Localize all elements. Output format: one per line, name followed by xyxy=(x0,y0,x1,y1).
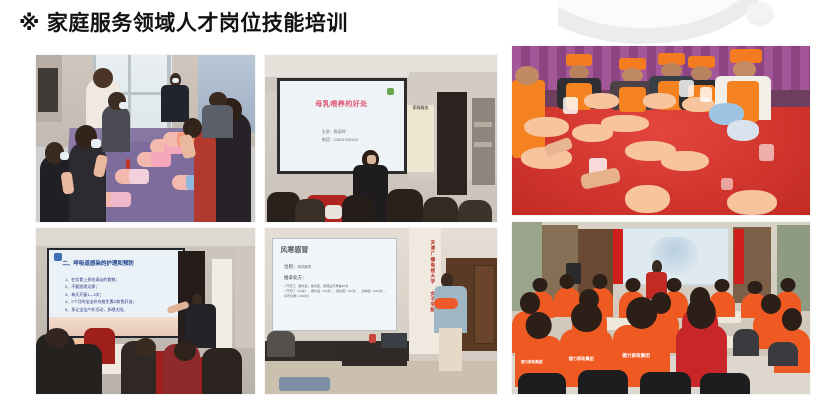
slide-presenter: 主讲：陈丽时 xyxy=(322,128,358,136)
slide-subtitle: 主讲：陈丽时 电话：13461932510 xyxy=(322,128,358,144)
slide-detail-list: • 开天门、推坎宫、揉太阳、揉耳后高骨各30次 • 开天门（24次）、推坎宫（2… xyxy=(284,284,389,299)
slide-bullet-principle: 治则：疏风解表 xyxy=(284,264,311,270)
photo-tcm-massage-lecture: 风寒感冒 治则：疏风解表 推拿处方： • 开天门、推坎宫、揉太阳、揉耳后高骨各3… xyxy=(265,228,497,394)
slide-bullet-label: 治则： xyxy=(284,264,298,269)
uniform-text: 德力家政集团 xyxy=(622,353,650,359)
slide-bullet-prescription: 推拿处方： xyxy=(284,275,307,281)
slide-bullet-item: 1、在饮食上多吃清淡的食物； xyxy=(65,276,136,284)
wall-calligraphy: 家政服务 xyxy=(407,105,435,172)
slide-detail-line: • 开天门（24次）、推坎宫（24次）、揉太阳（30次）、清肺经（100次）、平… xyxy=(284,289,389,299)
uniform-text: 德力家政集团 xyxy=(521,360,543,365)
wall-calligraphy-text: 家政服务 xyxy=(407,105,435,111)
slide-title: 风寒感冒 xyxy=(280,245,308,255)
slide-title: 母乳喂养的好处 xyxy=(290,99,394,109)
slide-bullet-item: 2、不要捂得太厚； xyxy=(65,283,136,291)
slide-bullet-item: 5、多让宝宝户外活动，多晒太阳。 xyxy=(65,306,136,314)
projector-screen: 风寒感冒 治则：疏风解表 推拿处方： • 开天门、推坎宫、揉太阳、揉耳后高骨各3… xyxy=(272,238,397,331)
slide-bullet-item: 4、2个月的宝宝补充维生素D和鱼肝油； xyxy=(65,298,136,306)
projector-screen: 二、呼吸道感染的护理和预防 1、在饮食上多吃清淡的食物； 2、不要捂得太厚； 3… xyxy=(47,248,185,338)
photo-bottle-feeding-practice xyxy=(512,46,810,215)
slide-logo-icon xyxy=(54,253,62,261)
projector-screen xyxy=(619,227,729,285)
slide-title: 二、呼吸道感染的护理和预防 xyxy=(62,259,134,267)
slide-bullet-value: 疏风解表 xyxy=(298,265,312,269)
projector-screen: 母乳喂养的好处 主讲：陈丽时 电话：13461932510 xyxy=(277,78,407,173)
slide-phone: 电话：13461932510 xyxy=(322,136,358,144)
slide-logo-icon xyxy=(387,88,394,95)
slide-bullet-list: 1、在饮食上多吃清淡的食物； 2、不要捂得太厚； 3、每天开窗1—2次； 4、2… xyxy=(65,276,136,314)
photo-classroom-orange-uniform: 德力家政集团 德力家政集团 德力家政集团 xyxy=(512,222,810,394)
photo-breastfeeding-lecture: 母乳喂养的好处 主讲：陈丽时 电话：13461932510 家政服务 xyxy=(265,55,497,222)
photo-training-dolls xyxy=(36,55,255,222)
uniform-text: 德力家政集团 xyxy=(569,356,594,362)
slide-bullet-item: 3、每天开窗1—2次； xyxy=(65,291,136,299)
slide-page: ※家庭服务领域人才岗位技能培训 xyxy=(0,0,818,410)
photo-grid: 母乳喂养的好处 主讲：陈丽时 电话：13461932510 家政服务 xyxy=(0,0,818,410)
photo-respiratory-care-lecture: 二、呼吸道感染的护理和预防 1、在饮食上多吃清淡的食物； 2、不要捂得太厚； 3… xyxy=(36,228,255,394)
